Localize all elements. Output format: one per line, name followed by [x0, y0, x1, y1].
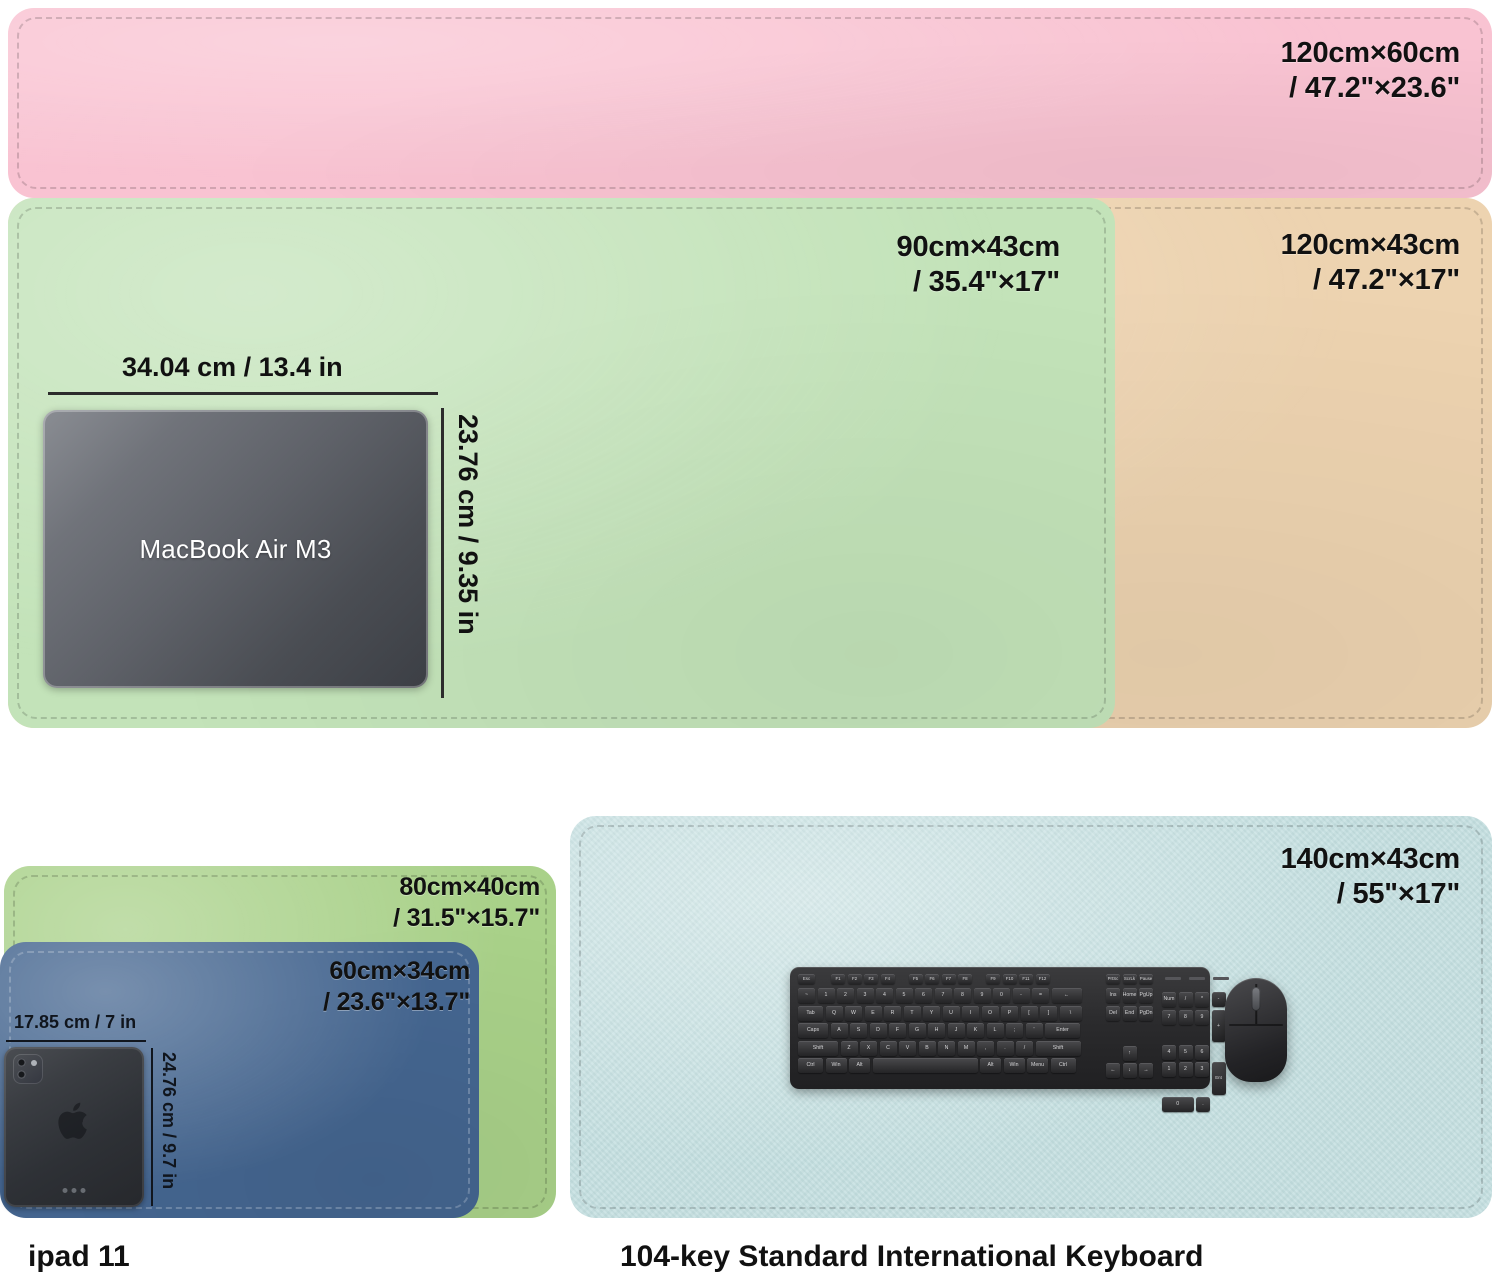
keyboard-main-block: Esc F1 F2 F3 F4 F5 F6 F7 F8 F9 F10 F11 F… [798, 974, 1098, 1076]
key-ctrl-left[interactable]: Ctrl [798, 1058, 823, 1073]
key-capslock[interactable]: Caps [798, 1023, 828, 1038]
key-5[interactable]: 5 [896, 988, 913, 1003]
key-alt-left[interactable]: Alt [849, 1058, 870, 1073]
macbook-height-dimension-line [441, 408, 444, 698]
key-9[interactable]: 9 [974, 988, 991, 1003]
keyboard-row-home: Caps A S D F G H J K L ; ' Enter [798, 1023, 1098, 1038]
key-g[interactable]: G [909, 1023, 926, 1038]
key-c[interactable]: C [880, 1041, 897, 1056]
key-f5[interactable]: F5 [909, 974, 923, 984]
numpad-row-3: 4 5 6 [1162, 1045, 1226, 1060]
key-z[interactable]: Z [841, 1041, 858, 1056]
numpad-row-1: Num / * - [1162, 992, 1226, 1007]
numpad-row-5: 0 . [1162, 1097, 1226, 1112]
size-label-lightblue: 140cm×43cm / 55"×17" [1160, 842, 1460, 913]
ipad-width-dimension-text: 17.85 cm / 7 in [14, 1012, 136, 1033]
led-scrolllock-icon [1213, 977, 1229, 980]
macbook-width-dimension-text: 34.04 cm / 13.4 in [122, 352, 343, 383]
key-w[interactable]: W [845, 1006, 862, 1021]
key-numpad-8[interactable]: 8 [1179, 1010, 1193, 1025]
smart-connector-icon [63, 1188, 86, 1193]
macbook-label: MacBook Air M3 [139, 534, 331, 565]
key-v[interactable]: V [899, 1041, 916, 1056]
key-period[interactable]: . [997, 1041, 1014, 1056]
numpad-row-4: 1 2 3 Ent [1162, 1062, 1226, 1095]
key-s[interactable]: S [850, 1023, 867, 1038]
key-bracket-right[interactable]: ] [1040, 1006, 1057, 1021]
key-slash[interactable]: / [1016, 1041, 1033, 1056]
size-label-pink: 120cm×60cm / 47.2"×23.6" [1160, 36, 1460, 107]
key-end[interactable]: End [1123, 1006, 1137, 1021]
key-2[interactable]: 2 [837, 988, 854, 1003]
key-arrow-left-icon[interactable]: ← [1106, 1063, 1120, 1078]
key-3[interactable]: 3 [857, 988, 874, 1003]
ipad-camera-module [13, 1054, 43, 1084]
led-capslock-icon [1189, 977, 1205, 980]
key-shift-left[interactable]: Shift [798, 1041, 838, 1056]
key-f6[interactable]: F6 [925, 974, 939, 984]
key-f7[interactable]: F7 [942, 974, 956, 984]
key-esc[interactable]: Esc [798, 974, 815, 984]
key-numpad-7[interactable]: 7 [1162, 1010, 1176, 1025]
key-a[interactable]: A [831, 1023, 848, 1038]
apple-logo-icon [55, 1099, 93, 1143]
key-backtick[interactable]: ~ [798, 988, 815, 1003]
key-semicolon[interactable]: ; [1006, 1023, 1023, 1038]
camera-lens-icon [17, 1058, 26, 1067]
ipad-width-dimension-line [6, 1040, 146, 1042]
key-space[interactable] [873, 1058, 978, 1073]
key-alt-right[interactable]: Alt [980, 1058, 1001, 1073]
key-x[interactable]: X [860, 1041, 877, 1056]
keyboard-led-indicators [1165, 977, 1229, 980]
key-j[interactable]: J [948, 1023, 965, 1038]
ipad-caption: ipad 11 [28, 1240, 130, 1274]
key-arrow-down-icon[interactable]: ↓ [1123, 1063, 1137, 1078]
size-label-olive: 80cm×40cm / 31.5"×15.7" [300, 872, 540, 933]
led-numlock-icon [1165, 977, 1181, 980]
key-d[interactable]: D [870, 1023, 887, 1038]
key-ctrl-right[interactable]: Ctrl [1051, 1058, 1076, 1073]
keyboard-row-qwerty: Tab Q W E R T Y U I O P [ ] \ [798, 1006, 1098, 1021]
key-numpad-1[interactable]: 1 [1162, 1062, 1176, 1077]
macbook-width-dimension-line [48, 392, 438, 395]
key-f4[interactable]: F4 [881, 974, 895, 984]
key-numpad-3[interactable]: 3 [1195, 1062, 1209, 1077]
keyboard-row-modifiers: Ctrl Win Alt Alt Win Menu Ctrl [798, 1058, 1098, 1073]
mouse-seam [1229, 1024, 1283, 1026]
keyboard-104-key: Esc F1 F2 F3 F4 F5 F6 F7 F8 F9 F10 F11 F… [790, 967, 1210, 1089]
keyboard-arrow-row: ← ↓ → [1106, 1063, 1153, 1078]
key-home[interactable]: Home [1123, 988, 1137, 1003]
key-insert[interactable]: Ins [1106, 988, 1120, 1003]
key-f11[interactable]: F11 [1019, 974, 1033, 984]
key-quote[interactable]: ' [1026, 1023, 1043, 1038]
key-numpad-4[interactable]: 4 [1162, 1045, 1176, 1060]
key-h[interactable]: H [928, 1023, 945, 1038]
key-numpad-plus[interactable]: + [1212, 1010, 1226, 1043]
infographic-canvas: 120cm×60cm / 47.2"×23.6" 120cm×43cm / 47… [0, 0, 1500, 1285]
key-numpad-6[interactable]: 6 [1195, 1045, 1209, 1060]
keyboard-numpad: Num / * - 7 8 9 + 4 5 6 1 2 3 Ent [1162, 992, 1226, 1115]
keyboard-row-shift: Shift Z X C V B N M , . / Shift [798, 1041, 1098, 1056]
key-menu[interactable]: Menu [1027, 1058, 1048, 1073]
key-bracket-left[interactable]: [ [1021, 1006, 1038, 1021]
key-numpad-2[interactable]: 2 [1179, 1062, 1193, 1077]
key-comma[interactable]: , [977, 1041, 994, 1056]
key-f1[interactable]: F1 [831, 974, 845, 984]
keyboard-row-function: Esc F1 F2 F3 F4 F5 F6 F7 F8 F9 F10 F11 F… [798, 974, 1098, 984]
key-k[interactable]: K [967, 1023, 984, 1038]
key-numpad-5[interactable]: 5 [1179, 1045, 1193, 1060]
key-arrow-right-icon[interactable]: → [1139, 1063, 1153, 1078]
key-f8[interactable]: F8 [958, 974, 972, 984]
key-l[interactable]: L [987, 1023, 1004, 1038]
key-f9[interactable]: F9 [986, 974, 1000, 984]
key-numpad-minus[interactable]: - [1212, 992, 1226, 1007]
keyboard-nav-row-mid: Ins Home PgUp [1106, 988, 1153, 1003]
key-numpad-0[interactable]: 0 [1162, 1097, 1194, 1112]
key-1[interactable]: 1 [818, 988, 835, 1003]
camera-lens-icon [17, 1070, 26, 1079]
key-r[interactable]: R [884, 1006, 901, 1021]
key-win-left[interactable]: Win [826, 1058, 847, 1073]
key-f12[interactable]: F12 [1036, 974, 1050, 984]
key-numpad-enter[interactable]: Ent [1212, 1062, 1226, 1095]
key-tab[interactable]: Tab [798, 1006, 823, 1021]
key-enter[interactable]: Enter [1045, 1023, 1080, 1038]
key-shift-right[interactable]: Shift [1036, 1041, 1081, 1056]
ipad-height-dimension-line [151, 1048, 153, 1206]
key-numlock[interactable]: Num [1162, 992, 1176, 1007]
camera-flash-icon [31, 1060, 37, 1066]
key-numpad-9[interactable]: 9 [1195, 1010, 1209, 1025]
size-label-blue: 60cm×34cm / 23.6"×13.7" [230, 956, 470, 1017]
key-y[interactable]: Y [923, 1006, 940, 1021]
key-numpad-decimal[interactable]: . [1196, 1097, 1210, 1112]
keyboard-nav-row-bot: Del End PgDn [1106, 1006, 1153, 1021]
key-o[interactable]: O [982, 1006, 999, 1021]
key-4[interactable]: 4 [876, 988, 893, 1003]
key-0[interactable]: 0 [993, 988, 1010, 1003]
keyboard-nav-cluster: PrtSc ScrLk Pause Ins Home PgUp Del End … [1106, 974, 1153, 1081]
key-arrow-up-icon[interactable]: ↑ [1123, 1046, 1137, 1061]
key-q[interactable]: Q [826, 1006, 843, 1021]
key-e[interactable]: E [865, 1006, 882, 1021]
key-7[interactable]: 7 [935, 988, 952, 1003]
mouse-scroll-wheel [1252, 987, 1261, 1011]
key-numpad-divide[interactable]: / [1179, 992, 1193, 1007]
macbook-air-m3: MacBook Air M3 [43, 410, 428, 688]
key-win-right[interactable]: Win [1004, 1058, 1025, 1073]
key-delete[interactable]: Del [1106, 1006, 1120, 1021]
key-p[interactable]: P [1001, 1006, 1018, 1021]
key-printscreen[interactable]: PrtSc [1106, 974, 1120, 984]
key-m[interactable]: M [958, 1041, 975, 1056]
key-equals[interactable]: = [1032, 988, 1049, 1003]
key-n[interactable]: N [938, 1041, 955, 1056]
ipad-height-dimension-text: 24.76 cm / 9.7 in [158, 1052, 179, 1189]
ipad-11 [4, 1047, 144, 1207]
numpad-row-2: 7 8 9 + [1162, 1010, 1226, 1043]
key-scrolllock[interactable]: ScrLk [1123, 974, 1137, 984]
keyboard-row-numbers: ~ 1 2 3 4 5 6 7 8 9 0 - = ← [798, 988, 1098, 1003]
size-label-green: 90cm×43cm / 35.4"×17" [790, 230, 1060, 301]
key-f3[interactable]: F3 [864, 974, 878, 984]
key-minus[interactable]: - [1013, 988, 1030, 1003]
macbook-height-dimension-text: 23.76 cm / 9.35 in [452, 414, 483, 635]
key-backslash[interactable]: \ [1060, 1006, 1082, 1021]
key-b[interactable]: B [919, 1041, 936, 1056]
key-8[interactable]: 8 [954, 988, 971, 1003]
key-pause[interactable]: Pause [1139, 974, 1153, 984]
keyboard-arrow-up-row: ↑ [1106, 1046, 1153, 1061]
key-u[interactable]: U [943, 1006, 960, 1021]
keyboard-nav-row-top: PrtSc ScrLk Pause [1106, 974, 1153, 984]
key-f10[interactable]: F10 [1003, 974, 1017, 984]
key-t[interactable]: T [904, 1006, 921, 1021]
size-label-tan: 120cm×43cm / 47.2"×17" [1160, 228, 1460, 299]
key-6[interactable]: 6 [915, 988, 932, 1003]
key-f[interactable]: F [889, 1023, 906, 1038]
key-pagedown[interactable]: PgDn [1139, 1006, 1153, 1021]
key-pageup[interactable]: PgUp [1139, 988, 1153, 1003]
key-backspace[interactable]: ← [1052, 988, 1082, 1003]
keyboard-caption: 104-key Standard International Keyboard [620, 1240, 1204, 1274]
key-numpad-multiply[interactable]: * [1195, 992, 1209, 1007]
computer-mouse [1225, 978, 1287, 1082]
key-i[interactable]: I [962, 1006, 979, 1021]
key-f2[interactable]: F2 [848, 974, 862, 984]
